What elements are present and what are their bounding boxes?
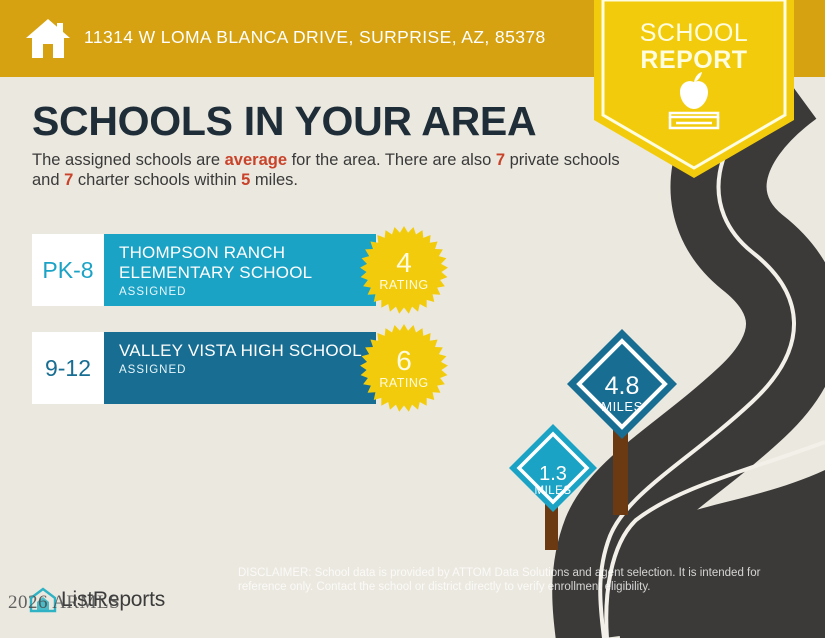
mls-watermark: 2026 ARMLS (8, 592, 120, 614)
assigned-label: ASSIGNED (119, 364, 366, 376)
school-rating-badge: 4 RATING (360, 226, 448, 314)
grade-range-label: 9-12 (45, 355, 91, 382)
school-card[interactable]: PK-8 THOMPSON RANCH ELEMENTARY SCHOOL AS… (32, 234, 376, 306)
home-icon (24, 14, 72, 62)
grade-range-label: PK-8 (42, 257, 93, 284)
assigned-label: ASSIGNED (119, 286, 366, 298)
school-name: VALLEY VISTA HIGH SCHOOL (119, 341, 366, 361)
starburst-icon (360, 324, 448, 412)
school-card-body: THOMPSON RANCH ELEMENTARY SCHOOL ASSIGNE… (104, 234, 376, 306)
property-address: 11314 W LOMA BLANCA DRIVE, SURPRISE, AZ,… (84, 27, 546, 48)
disclaimer-text: DISCLAIMER: School data is provided by A… (238, 566, 790, 594)
distance-sign: 4.8 MILES (563, 325, 681, 515)
school-report-badge (594, 0, 794, 178)
grade-range-badge: 9-12 (32, 332, 104, 404)
school-card-body: VALLEY VISTA HIGH SCHOOL ASSIGNED (104, 332, 376, 404)
school-name: THOMPSON RANCH ELEMENTARY SCHOOL (119, 243, 366, 283)
grade-range-badge: PK-8 (32, 234, 104, 306)
school-rating-badge: 6 RATING (360, 324, 448, 412)
starburst-icon (360, 226, 448, 314)
school-report-infographic: 11314 W LOMA BLANCA DRIVE, SURPRISE, AZ,… (0, 0, 825, 638)
school-card[interactable]: 9-12 VALLEY VISTA HIGH SCHOOL ASSIGNED (32, 332, 376, 404)
diamond-sign-icon (563, 325, 681, 515)
